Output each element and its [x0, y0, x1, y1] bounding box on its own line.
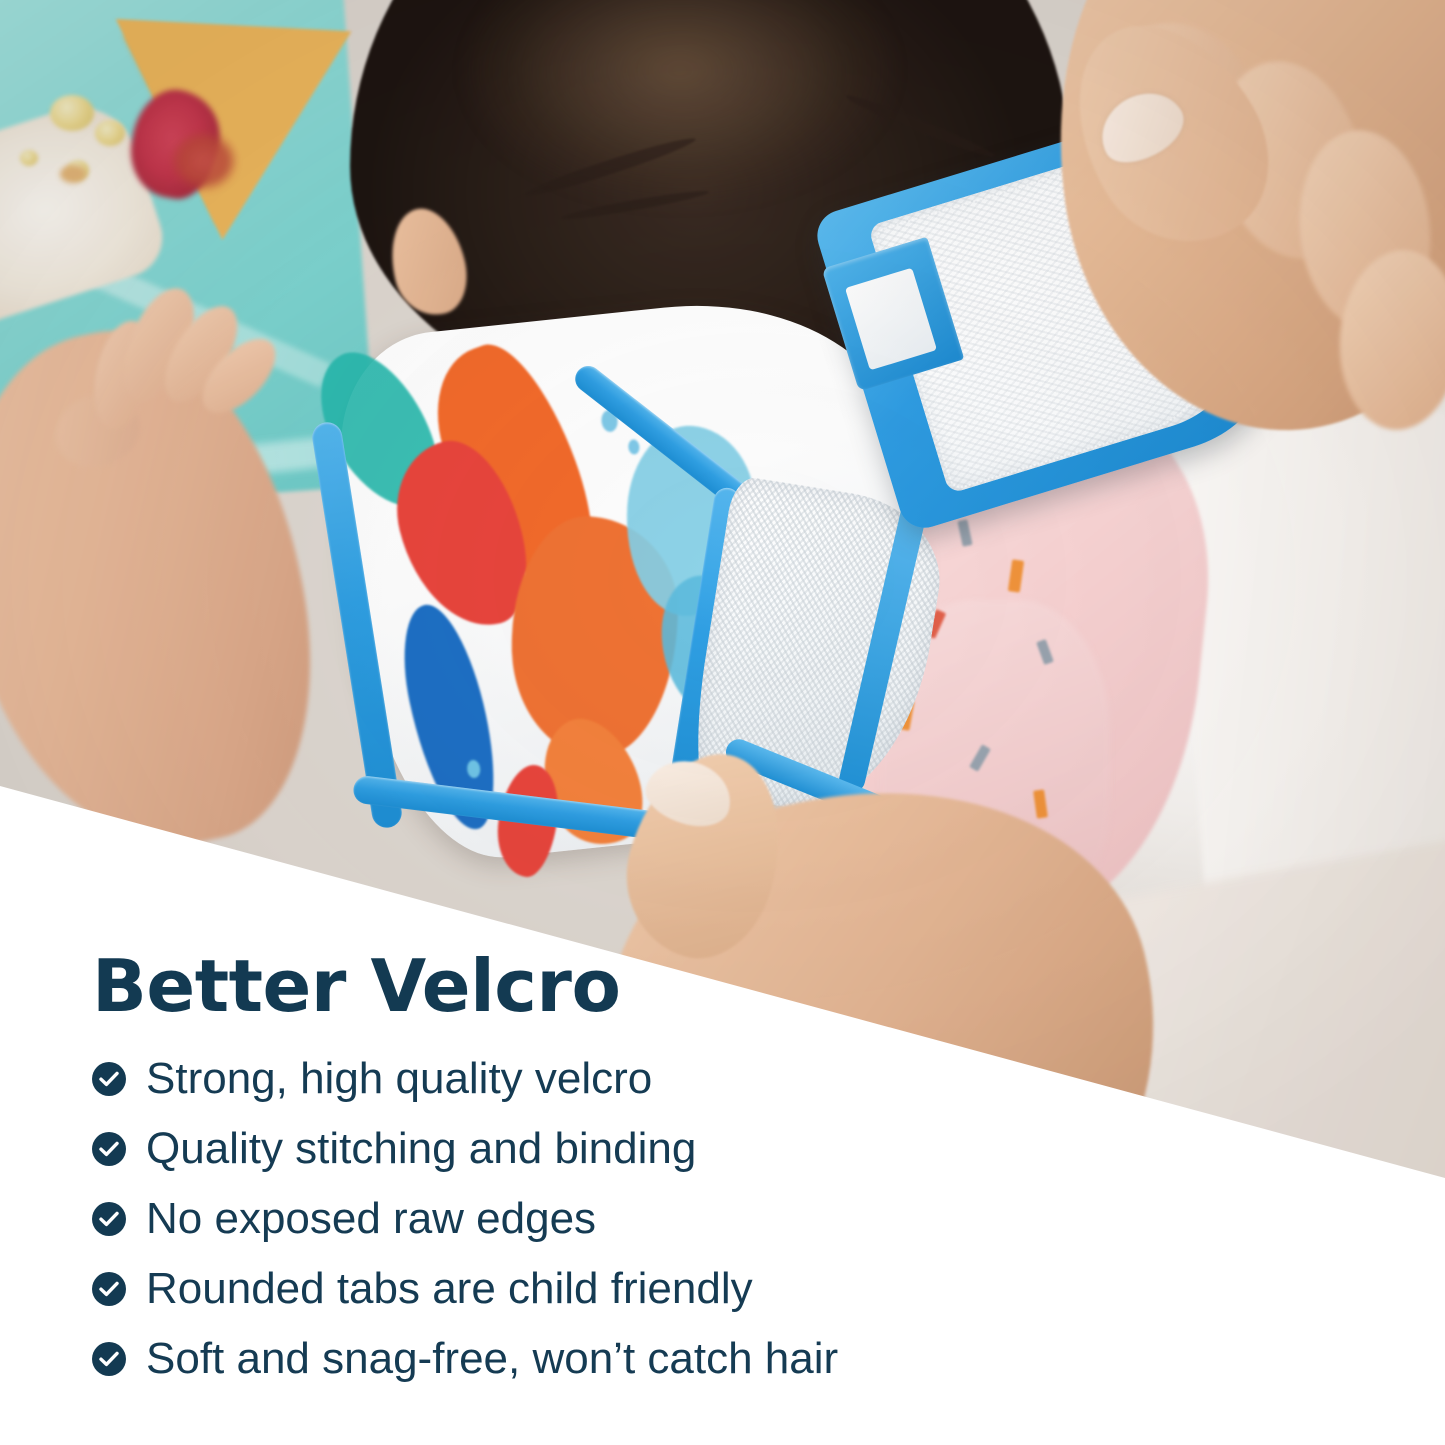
list-item: Quality stitching and binding	[92, 1114, 1092, 1184]
feature-content: Better Velcro Strong, high quality velcr…	[92, 950, 1092, 1394]
feature-text: Soft and snag-free, won’t catch hair	[146, 1336, 838, 1382]
check-circle-icon	[92, 1132, 126, 1166]
check-circle-icon	[92, 1202, 126, 1236]
cereal-ring	[50, 95, 94, 131]
food-crumb	[60, 165, 86, 183]
list-item: No exposed raw edges	[92, 1184, 1092, 1254]
splash-print-bib	[330, 300, 940, 860]
feature-text: Strong, high quality velcro	[146, 1056, 652, 1102]
page-title: Better Velcro	[92, 950, 1092, 1022]
check-circle-icon	[92, 1342, 126, 1376]
jam-spread-highlight	[175, 135, 233, 187]
cereal-ring	[20, 150, 38, 166]
product-feature-card: Better Velcro Strong, high quality velcr…	[0, 0, 1445, 1445]
feature-text: No exposed raw edges	[146, 1196, 596, 1242]
list-item: Strong, high quality velcro	[92, 1044, 1092, 1114]
list-item: Rounded tabs are child friendly	[92, 1254, 1092, 1324]
bib-splash-dot	[628, 439, 641, 455]
feature-text: Quality stitching and binding	[146, 1126, 696, 1172]
check-circle-icon	[92, 1062, 126, 1096]
feature-list: Strong, high quality velcro Quality stit…	[92, 1044, 1092, 1394]
feature-text: Rounded tabs are child friendly	[146, 1266, 753, 1312]
list-item: Soft and snag-free, won’t catch hair	[92, 1324, 1092, 1394]
check-circle-icon	[92, 1272, 126, 1306]
